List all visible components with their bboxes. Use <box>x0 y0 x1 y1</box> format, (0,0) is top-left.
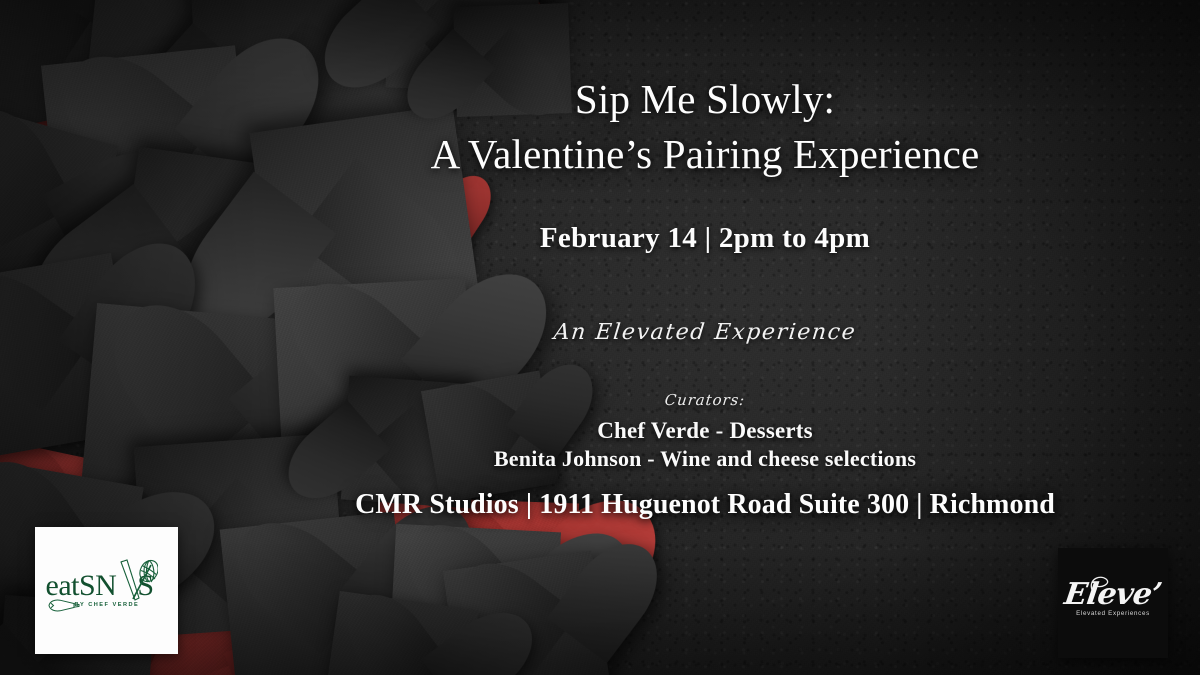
event-venue: CMR Studios | 1911 Huguenot Road Suite 3… <box>350 489 1060 521</box>
flyer-text-content: Sip Me Slowly: A Valentine’s Pairing Exp… <box>355 0 1055 675</box>
event-flyer: Sip Me Slowly: A Valentine’s Pairing Exp… <box>0 0 1200 675</box>
eleve-wordmark: Eleve’ <box>1056 577 1171 612</box>
curators-label: Curators: <box>354 391 1056 409</box>
event-title-line1: Sip Me Slowly: <box>575 76 835 122</box>
eleve-tagline: Elevated Experiences <box>1058 610 1168 617</box>
curator-item: Chef Verde - Desserts <box>355 418 1055 444</box>
event-tagline: An Elevated Experience <box>354 320 1057 345</box>
event-title: Sip Me Slowly: A Valentine’s Pairing Exp… <box>355 72 1055 182</box>
curator-item: Benita Johnson - Wine and cheese selecti… <box>355 446 1055 472</box>
event-datetime: February 14 | 2pm to 4pm <box>355 222 1055 255</box>
event-title-line2: A Valentine’s Pairing Experience <box>355 127 1055 182</box>
whisk-icon <box>118 559 158 605</box>
eatsnxs-tagline: BY CHEF VERDE <box>75 602 140 608</box>
eleve-logo: Eleve’ Elevated Experiences <box>1058 548 1168 658</box>
eatsnxs-logo: eatSNXS <box>35 527 178 654</box>
